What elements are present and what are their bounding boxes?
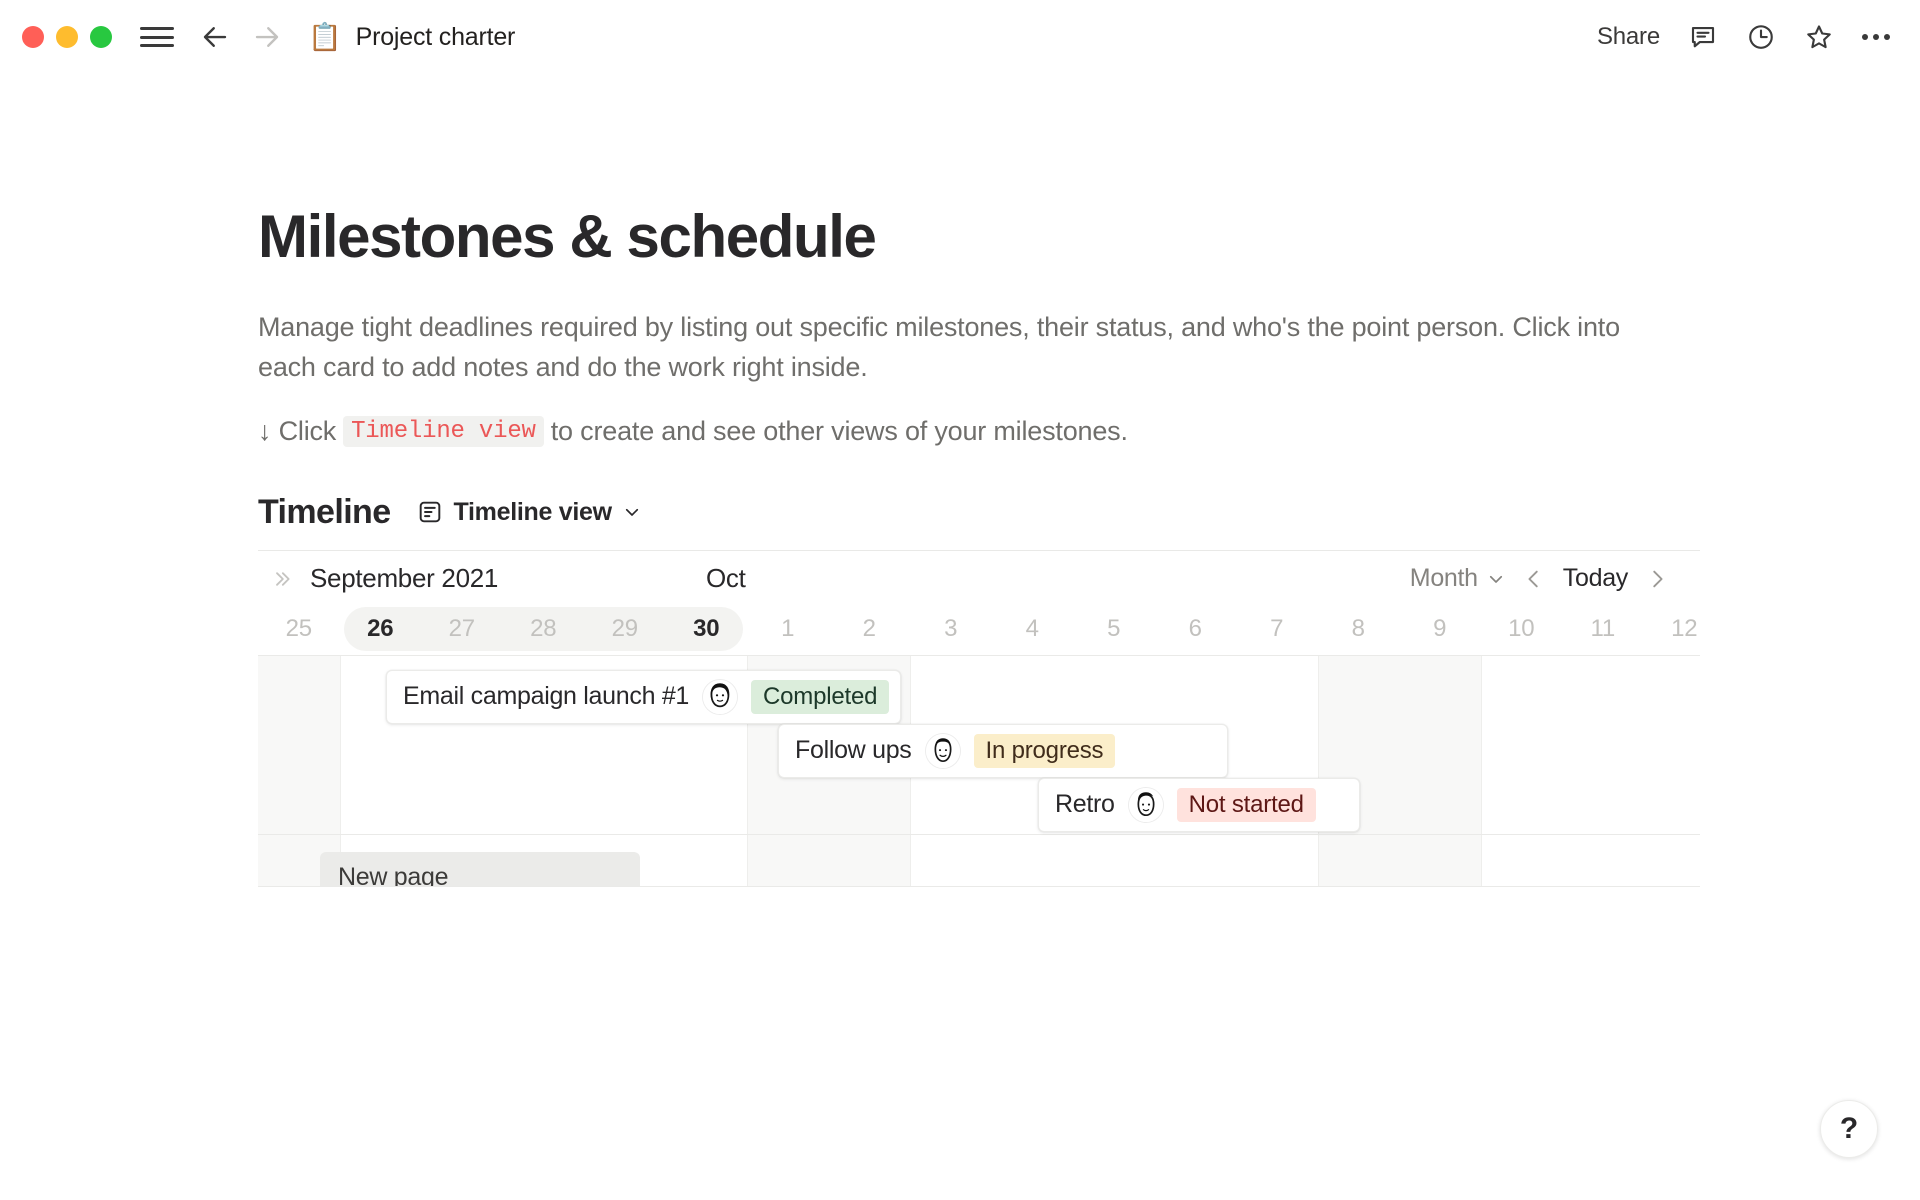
calendar-day-29[interactable]: 29: [584, 607, 666, 651]
calendar-day-28[interactable]: 28: [503, 607, 585, 651]
calendar-zoom-select[interactable]: Month: [1410, 564, 1505, 593]
forward-arrow-icon[interactable]: [252, 22, 282, 52]
calendar-day-2[interactable]: 2: [829, 607, 911, 651]
history-clock-icon[interactable]: [1746, 22, 1776, 52]
calendar-day-10[interactable]: 10: [1481, 607, 1563, 651]
callout-prefix: ↓ Click: [258, 416, 336, 447]
inline-code-timeline-view: Timeline view: [343, 416, 544, 447]
section-heading: Timeline: [258, 493, 391, 532]
help-button[interactable]: ?: [1820, 1100, 1878, 1158]
window-titlebar: 📋 Project charter Share: [0, 0, 1920, 74]
callout-suffix: to create and see other views of your mi…: [551, 416, 1128, 447]
chevron-down-icon: [1487, 570, 1505, 588]
calendar-day-12[interactable]: 12: [1644, 607, 1726, 651]
traffic-lights: [22, 26, 112, 48]
status-badge: Not started: [1177, 788, 1316, 822]
document-title: Project charter: [356, 23, 516, 52]
more-options-icon[interactable]: [1862, 34, 1890, 40]
content-column: Milestones & schedule Manage tight deadl…: [258, 204, 1700, 887]
calendar-day-3[interactable]: 3: [910, 607, 992, 651]
view-selector-label: Timeline view: [454, 498, 612, 527]
timeline-view-icon: [417, 499, 443, 525]
calendar-day-6[interactable]: 6: [1155, 607, 1237, 651]
minimize-window-button[interactable]: [56, 26, 78, 48]
navigation-arrows: [200, 22, 282, 52]
calendar-day-strip: 252627282930123456789101112: [258, 607, 1700, 651]
help-label: ?: [1840, 1114, 1858, 1144]
timeline-card-title: Follow ups: [795, 736, 912, 765]
clipboard-icon: 📋: [308, 24, 342, 51]
calendar-zoom-label: Month: [1410, 564, 1478, 593]
calendar-day-25[interactable]: 25: [258, 607, 340, 651]
calendar-prev-button[interactable]: [1523, 568, 1545, 590]
avatar: [1129, 788, 1163, 822]
close-window-button[interactable]: [22, 26, 44, 48]
calendar-day-1[interactable]: 1: [747, 607, 829, 651]
timeline-card[interactable]: Email campaign launch #1 Completed: [386, 670, 901, 724]
star-icon[interactable]: [1804, 22, 1834, 52]
grid-column-line: [1318, 656, 1319, 886]
page-description: Manage tight deadlines required by listi…: [258, 308, 1638, 388]
grid-column-line: [1481, 656, 1482, 886]
timeline-grid: Email campaign launch #1 CompletedFollow…: [258, 655, 1700, 887]
calendar-day-26[interactable]: 26: [340, 607, 422, 651]
calendar-day-8[interactable]: 8: [1318, 607, 1400, 651]
chevron-down-icon: [623, 503, 641, 521]
menu-icon[interactable]: [140, 24, 174, 50]
new-page-label: New page: [338, 863, 448, 887]
avatar: [926, 734, 960, 768]
timeline-card[interactable]: Follow ups In progress: [778, 724, 1228, 778]
status-badge: In progress: [974, 734, 1116, 768]
comment-icon[interactable]: [1688, 22, 1718, 52]
grid-weekend-band: [1318, 656, 1481, 886]
share-button[interactable]: Share: [1597, 23, 1660, 51]
calendar-month-secondary: Oct: [706, 563, 746, 594]
calendar-day-4[interactable]: 4: [992, 607, 1074, 651]
calendar-toolbar: September 2021 Oct Month Today: [258, 551, 1700, 607]
calendar-day-30[interactable]: 30: [666, 607, 748, 651]
grid-row-separator: [258, 834, 1700, 835]
calendar-day-7[interactable]: 7: [1236, 607, 1318, 651]
calendar-controls: Month Today: [1410, 564, 1668, 593]
page-title: Milestones & schedule: [258, 204, 1700, 270]
calendar-day-5[interactable]: 5: [1073, 607, 1155, 651]
calendar-next-button[interactable]: [1646, 568, 1668, 590]
status-badge: Completed: [751, 680, 889, 714]
calendar-month-primary: September 2021: [310, 563, 498, 594]
calendar-today-button[interactable]: Today: [1563, 564, 1628, 593]
back-arrow-icon[interactable]: [200, 22, 230, 52]
maximize-window-button[interactable]: [90, 26, 112, 48]
avatar: [703, 680, 737, 714]
timeline-card-title: Retro: [1055, 790, 1115, 819]
page-body: Milestones & schedule Manage tight deadl…: [0, 74, 1920, 887]
timeline-card-title: Email campaign launch #1: [403, 682, 689, 711]
calendar-day-11[interactable]: 11: [1562, 607, 1644, 651]
breadcrumb[interactable]: 📋 Project charter: [308, 23, 515, 52]
timeline-section-header: Timeline Timeline view: [258, 493, 1700, 532]
timeline-card[interactable]: Retro Not started: [1038, 778, 1360, 832]
new-page-button[interactable]: New page: [320, 852, 640, 887]
titlebar-actions: Share: [1597, 22, 1890, 52]
callout-line: ↓ Click Timeline view to create and see …: [258, 416, 1700, 447]
double-chevron-right-icon[interactable]: [270, 569, 294, 589]
tab-timeline-view[interactable]: Timeline view: [417, 498, 641, 527]
calendar-day-27[interactable]: 27: [421, 607, 503, 651]
calendar-day-9[interactable]: 9: [1399, 607, 1481, 651]
